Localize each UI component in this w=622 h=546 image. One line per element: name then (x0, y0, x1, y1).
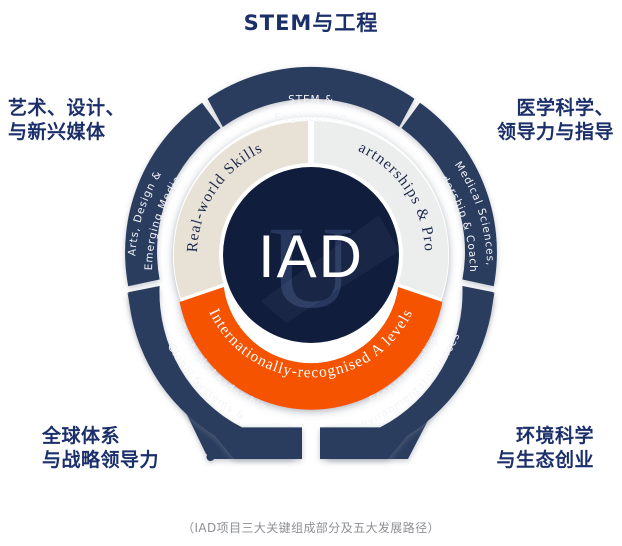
chinese-label-medical: 医学科学、 领导力与指导 (497, 96, 614, 145)
outer-label-stem-line1: STEM & (288, 94, 334, 106)
center-disc: U IAD (219, 163, 403, 347)
chinese-label-arts: 艺术、设计、 与新兴媒体 (8, 96, 125, 145)
center-acronym: IAD (258, 223, 364, 290)
figure-caption: （IAD项目三大关键组成部分及五大发展路径） (0, 519, 622, 536)
outer-label-stem-line2: Engineering (275, 112, 348, 124)
infographic-canvas: STEM与工程 艺术、设计、 与新兴媒体 医学科学、 领导力与指导 全球体系 与… (0, 0, 622, 546)
radial-wheel-diagram: U IAD Real-world Skills Global Partnersh… (111, 55, 511, 495)
page-title: STEM与工程 (0, 10, 622, 37)
chinese-label-environmental: 环境科学 与生态创业 (496, 424, 594, 473)
